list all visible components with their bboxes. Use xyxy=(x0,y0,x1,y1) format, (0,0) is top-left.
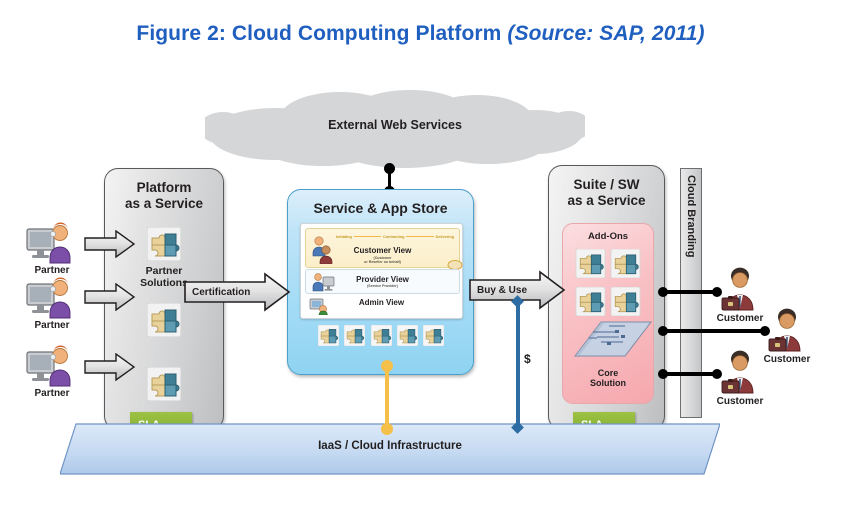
store-puzzle-strip xyxy=(318,327,444,349)
addon-puzzle-icon-1[interactable] xyxy=(575,249,606,283)
customer-label-3: Customer xyxy=(709,396,771,407)
paas-title-line2: as a Service xyxy=(125,196,203,211)
store-puzzle-icon-5[interactable] xyxy=(423,325,444,351)
paas-title-line1: Platform xyxy=(137,180,192,195)
suite-title-line1: Suite / SW xyxy=(573,177,639,192)
external-web-services-cloud: External Web Services xyxy=(205,88,585,168)
suite-customer-connector-1 xyxy=(662,290,718,294)
customer-label-2: Customer xyxy=(756,354,818,365)
addon-puzzle-icon-2[interactable] xyxy=(610,249,641,283)
partner-solution-puzzle-2[interactable] xyxy=(147,303,181,342)
admin-view-card[interactable]: Admin View xyxy=(305,294,458,315)
phase-initiating: Initiating xyxy=(336,235,352,239)
store-puzzle-icon-3[interactable] xyxy=(371,325,392,351)
phase-contracting: Contracting xyxy=(383,235,404,239)
store-puzzle-icon-1[interactable] xyxy=(318,325,339,351)
customer-icon-2[interactable] xyxy=(765,307,809,358)
provider-view-card[interactable]: Provider View (Service Provider) xyxy=(305,269,460,294)
partner-label-1: Partner xyxy=(24,265,80,276)
money-flow-connector xyxy=(516,300,520,430)
add-ons-label: Add-Ons xyxy=(563,231,653,242)
iaas-label: IaaS / Cloud Infrastructure xyxy=(60,440,720,452)
money-symbol: $ xyxy=(524,352,531,366)
partner-in-arrow-2 xyxy=(84,283,136,311)
provider-view-sub: (Service Provider) xyxy=(306,284,459,288)
partner-solution-puzzle-1[interactable] xyxy=(147,227,181,266)
add-ons-grid xyxy=(575,249,641,311)
provider-view-title: Provider View xyxy=(306,275,459,284)
core-solution-label: Core Solution xyxy=(563,368,653,389)
core-label-line1: Core xyxy=(598,368,619,378)
partner-label-2: Partner xyxy=(24,320,80,331)
partner-icon-1[interactable] xyxy=(24,222,80,269)
admin-view-title: Admin View xyxy=(305,298,458,307)
partner-icon-2[interactable] xyxy=(24,277,80,324)
partner-icon-3[interactable] xyxy=(24,345,80,392)
customer-view-sub-line1: (Customer xyxy=(374,256,392,260)
store-views-container: Initiating Contracting Delivering Custom… xyxy=(300,223,463,319)
figure-canvas: Figure 2: Cloud Computing Platform (Sour… xyxy=(0,0,841,517)
cloud-connector-dot-top xyxy=(384,163,395,174)
add-ons-box[interactable]: Add-Ons xyxy=(562,223,654,404)
core-solution-slab-icon xyxy=(563,312,653,370)
core-label-line2: Solution xyxy=(590,378,626,388)
phase-line-2 xyxy=(406,236,433,237)
store-title: Service & App Store xyxy=(288,200,473,217)
phase-delivering: Delivering xyxy=(436,235,454,239)
paas-sub-line1: Partner xyxy=(146,265,183,277)
customer-icon-3[interactable] xyxy=(718,349,762,400)
customer-view-title: Customer View xyxy=(306,246,459,255)
certification-arrow[interactable]: Certification xyxy=(183,272,291,312)
suite-title-line2: as a Service xyxy=(567,193,645,208)
customer-view-sub: (Customer or Reseller on behalf) xyxy=(306,256,459,265)
partner-in-arrow-1 xyxy=(84,230,136,258)
service-and-app-store-panel[interactable]: Service & App Store Initiating Contracti… xyxy=(287,189,474,375)
figure-title-main: Figure 2: Cloud Computing Platform xyxy=(136,22,507,45)
figure-title: Figure 2: Cloud Computing Platform (Sour… xyxy=(0,22,841,46)
customer-icon-1[interactable] xyxy=(718,266,762,317)
suite-title: Suite / SW as a Service xyxy=(549,177,664,210)
partner-label-3: Partner xyxy=(24,388,80,399)
suite-customer-dot-2a xyxy=(658,326,668,336)
phase-line-1 xyxy=(354,236,381,237)
customer-view-sub-line2: or Reseller on behalf) xyxy=(364,260,401,264)
suite-customer-connector-3 xyxy=(662,372,718,376)
partner-solution-puzzle-3[interactable] xyxy=(147,367,181,406)
phase-progress-row: Initiating Contracting Delivering xyxy=(336,233,454,240)
store-iaas-dot-bottom xyxy=(381,423,393,435)
suite-customer-dot-3a xyxy=(658,369,668,379)
store-iaas-dot-top xyxy=(381,360,393,372)
suite-customer-connector-2 xyxy=(662,329,766,333)
suite-customer-dot-1a xyxy=(658,287,668,297)
store-puzzle-icon-4[interactable] xyxy=(397,325,418,351)
cloud-label: External Web Services xyxy=(205,118,585,132)
figure-title-source: (Source: SAP, 2011) xyxy=(507,22,704,45)
customer-label-1: Customer xyxy=(709,313,771,324)
partner-in-arrow-3 xyxy=(84,353,136,381)
paas-sub-line2: Solutions xyxy=(140,277,188,289)
store-puzzle-icon-2[interactable] xyxy=(344,325,365,351)
store-to-iaas-connector xyxy=(385,363,389,429)
customer-view-card[interactable]: Initiating Contracting Delivering Custom… xyxy=(305,228,460,268)
certification-label: Certification xyxy=(183,272,291,312)
paas-title: Platform as a Service xyxy=(105,180,223,213)
